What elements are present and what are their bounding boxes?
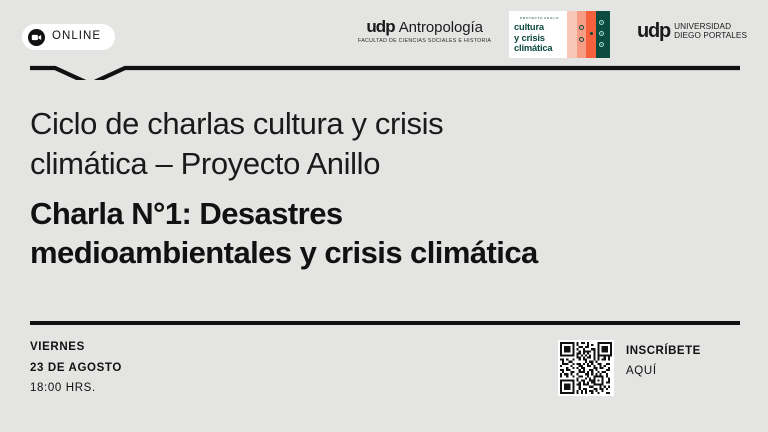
universidad-name: UNIVERSIDAD DIEGO PORTALES [674,22,747,40]
dot-ring-3 [589,31,594,36]
dot-ring-1 [579,25,584,30]
talk-title-line-2: medioambientales y crisis climática [30,233,690,272]
event-weekday: VIERNES [30,342,122,354]
dot-ring-6 [599,42,604,47]
poster-topbar: ONLINE udp Antropología FACULTAD DE CIEN… [0,0,768,62]
cultura-logo-stripes [567,11,610,58]
video-camera-icon [28,29,45,46]
cultura-logo-line1: cultura [514,22,565,33]
qr-code[interactable] [558,340,614,396]
register-label-primary: INSCRÍBETE [626,346,701,358]
online-badge-label: ONLINE [52,31,101,43]
divider-bottom [30,321,740,325]
event-time: 18:00 HRS. [30,383,122,395]
registration-block[interactable]: INSCRÍBETE AQUÍ [558,340,701,396]
register-labels: INSCRÍBETE AQUÍ [626,340,701,377]
poster-title-block: Ciclo de charlas cultura y crisis climát… [30,104,730,272]
talk-title-line-1: Charla N°1: Desastres [30,194,690,233]
talk-title: Charla N°1: Desastres medioambientales y… [30,194,690,273]
series-title: Ciclo de charlas cultura y crisis climát… [30,104,550,185]
udp-wordmark-right: udp [637,21,670,41]
antropologia-label: Antropología [399,20,483,35]
logo-udp-universidad-diego-portales: udp UNIVERSIDAD DIEGO PORTALES [637,21,747,41]
faculty-label: FACULTAD DE CIENCIAS SOCIALES E HISTORIA [358,39,491,44]
dot-ring-2 [579,37,584,42]
register-label-secondary: AQUÍ [626,366,701,378]
online-badge[interactable]: ONLINE [22,24,115,50]
udp-wordmark: udp [366,18,394,35]
series-title-line-2: climática – Proyecto Anillo [30,144,550,184]
dot-ring-5 [599,31,604,36]
event-datetime: VIERNES 23 DE AGOSTO 18:00 HRS. [30,342,122,395]
stripe-salmon [577,11,586,58]
cultura-logo-eyebrow: PROYECTO ANILLO [514,16,565,20]
series-title-line-1: Ciclo de charlas cultura y crisis [30,104,550,144]
event-day-month: 23 DE AGOSTO [30,363,122,375]
divider-top-with-notch [30,58,740,80]
dot-ring-4 [599,20,604,25]
cultura-logo-line3: climática [514,43,565,54]
universidad-line2: DIEGO PORTALES [674,31,747,40]
universidad-line1: UNIVERSIDAD [674,22,731,31]
logo-cultura-y-crisis-climatica: PROYECTO ANILLO cultura y crisis climáti… [509,11,610,58]
stripe-pink [567,11,577,58]
logo-udp-antropologia: udp Antropología FACULTAD DE CIENCIAS SO… [358,18,491,44]
event-poster: ONLINE udp Antropología FACULTAD DE CIEN… [0,0,768,432]
